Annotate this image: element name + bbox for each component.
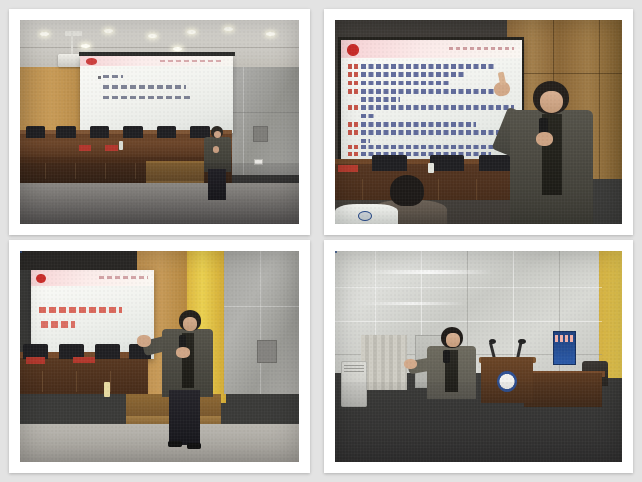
desk-nameplate xyxy=(105,145,118,150)
air-conditioner-grille xyxy=(344,365,364,373)
slide-text-line xyxy=(361,139,370,144)
projector-mount xyxy=(65,31,82,36)
slide-text-line xyxy=(361,114,375,119)
gray-wall-panel xyxy=(224,251,299,394)
slide-title-line xyxy=(41,321,75,327)
stage-chair xyxy=(56,126,76,138)
microphone-icon xyxy=(443,350,450,363)
party-emblem-icon xyxy=(347,44,359,56)
stage-chair xyxy=(157,126,177,138)
slide-text-line xyxy=(361,97,401,102)
slide-text-line xyxy=(361,81,450,86)
microphone-head-icon xyxy=(518,339,525,344)
slide-text-line xyxy=(361,145,502,150)
photo-card-bottom-left[interactable] xyxy=(9,240,310,473)
water-bottle xyxy=(428,163,434,173)
screen-housing xyxy=(20,251,137,270)
uniform-badge-icon xyxy=(20,251,22,253)
party-emblem-icon xyxy=(86,58,97,64)
speaker-hand xyxy=(404,359,417,370)
slide-text-line xyxy=(361,72,466,77)
speaker-hand xyxy=(176,347,190,358)
photo-bottom-left xyxy=(20,251,299,462)
desk-nameplate xyxy=(338,165,358,172)
slide-text-line xyxy=(361,64,497,69)
speaker-shoe xyxy=(168,441,182,447)
projector-rod xyxy=(71,32,73,54)
floor xyxy=(20,424,299,462)
desk-nameplate xyxy=(79,145,92,150)
slide-list-number xyxy=(348,81,359,86)
projection-screen xyxy=(80,56,233,134)
slide-text-line xyxy=(103,85,186,88)
photo-collage xyxy=(0,0,642,482)
slide-text-line xyxy=(103,75,123,78)
ceiling-seam xyxy=(20,47,299,48)
wall-seam xyxy=(260,251,261,394)
wall-vent xyxy=(257,340,277,363)
speaker-legs xyxy=(169,390,200,445)
stage-chair xyxy=(479,155,511,171)
slide-list-number xyxy=(348,105,359,110)
stage-chair xyxy=(372,155,406,171)
water-bottle xyxy=(119,141,123,149)
party-emblem-icon xyxy=(36,274,46,284)
speaker-face xyxy=(214,131,221,138)
slide-list-number xyxy=(348,130,359,135)
speaker-hand xyxy=(137,335,151,347)
slide-header-text xyxy=(449,47,514,50)
slide-text-line xyxy=(361,130,511,135)
photo-card-top-left[interactable] xyxy=(9,9,310,235)
photo-bottom-right xyxy=(335,251,622,462)
wall-reflection xyxy=(358,302,467,305)
uniform-badge-icon xyxy=(335,251,337,253)
wall-vent xyxy=(253,126,268,142)
slide-list-number xyxy=(348,152,359,157)
slide-list-number xyxy=(348,64,359,69)
bullet-icon xyxy=(98,76,101,79)
photo-card-top-right[interactable] xyxy=(324,9,633,235)
desk-nameplate xyxy=(73,357,95,363)
slide-list-number xyxy=(348,89,359,94)
panel-seam xyxy=(513,251,514,373)
stage-chair xyxy=(95,344,120,359)
wall-reflection xyxy=(364,270,493,274)
desk-chevron-pattern xyxy=(26,371,143,392)
water-bottle xyxy=(104,382,111,397)
slide-header-text xyxy=(99,276,148,279)
stage-chair xyxy=(430,155,464,171)
photo-top-left xyxy=(20,20,299,224)
slide-text-line xyxy=(361,105,515,110)
banner-text xyxy=(555,335,575,341)
slide-text-line xyxy=(103,96,192,99)
photo-top-right xyxy=(335,20,622,224)
stage-chair xyxy=(123,126,143,138)
stage-chair xyxy=(90,126,110,138)
downlight-icon xyxy=(224,27,233,31)
speaker-shoe xyxy=(187,443,201,449)
photo-card-bottom-right[interactable] xyxy=(324,240,633,473)
wall-seam xyxy=(599,20,600,179)
speaker-face xyxy=(446,333,459,347)
speaker-hand xyxy=(213,146,220,152)
slide-list-number xyxy=(348,72,359,77)
slide-text-line xyxy=(361,122,477,127)
downlight-icon xyxy=(173,47,182,51)
slide-header-text xyxy=(160,60,224,62)
yellow-wall-stripe xyxy=(599,251,622,378)
slide-list-number xyxy=(348,145,359,150)
desk-nameplate xyxy=(26,357,46,364)
wall-seam xyxy=(224,306,299,307)
slide-title-line xyxy=(39,307,122,313)
slide-list-number xyxy=(348,122,359,127)
uniform-badge-icon xyxy=(358,211,372,221)
speaker-face xyxy=(540,91,563,112)
audience-member xyxy=(390,175,424,206)
wall-seam xyxy=(507,73,622,74)
stage-chair xyxy=(26,126,46,138)
audience-shadow xyxy=(20,163,299,224)
audience-shadow xyxy=(335,382,622,462)
slide-text-line xyxy=(361,89,506,94)
